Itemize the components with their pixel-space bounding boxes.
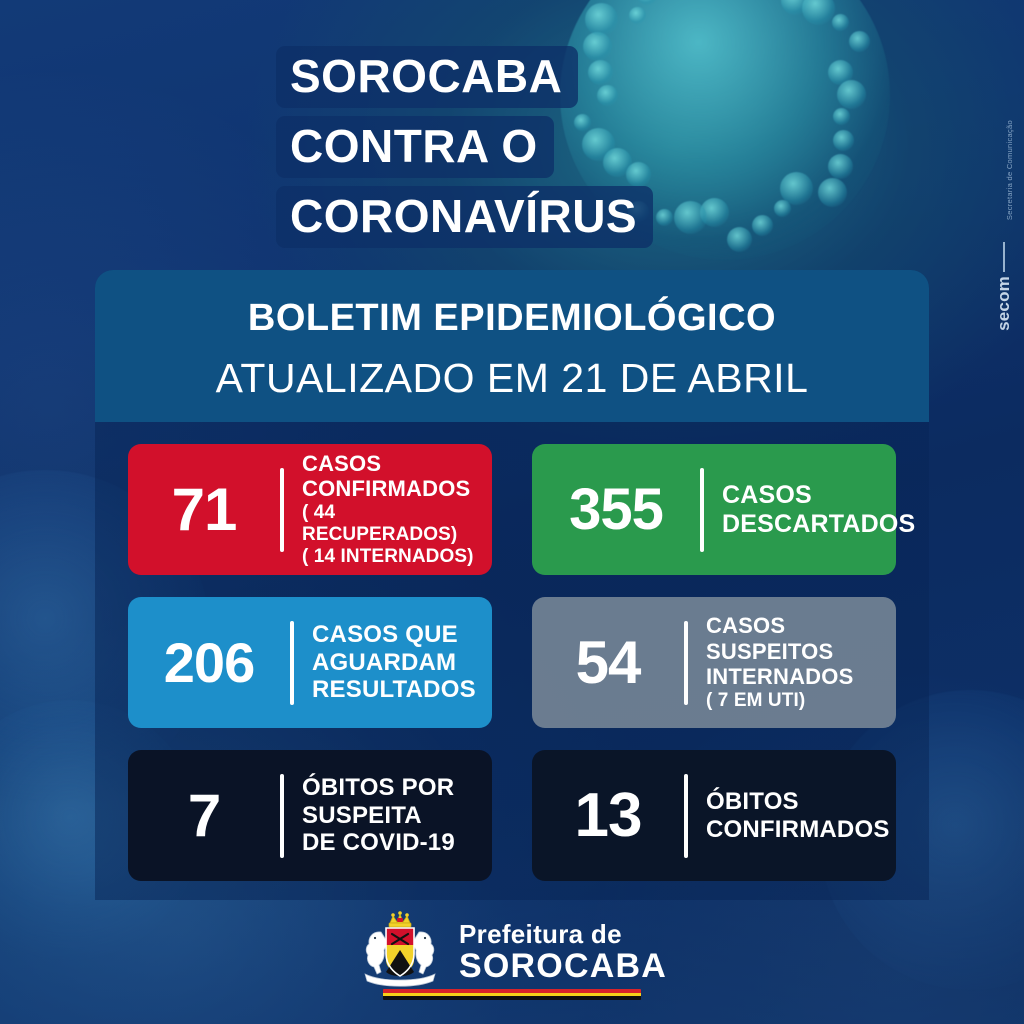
stat-card-casos-confirmados: 71 CASOS CONFIRMADOS ( 44 RECUPERADOS) (… [128, 444, 492, 575]
stat-label-line-1: CASOS [722, 481, 915, 510]
stat-label: CASOS SUSPEITOS INTERNADOS ( 7 EM UTI) [688, 613, 890, 712]
tricolor-bar [383, 989, 641, 1000]
bulletin-header-band: BOLETIM EPIDEMIOLÓGICO ATUALIZADO EM 21 … [95, 270, 929, 422]
statistics-grid: 71 CASOS CONFIRMADOS ( 44 RECUPERADOS) (… [128, 444, 896, 903]
stat-label-line-2: CONFIRMADOS [302, 476, 486, 502]
brand-line-2: SOROCABA [459, 949, 667, 983]
statistics-row-3: 7 ÓBITOS POR SUSPEITA DE COVID-19 13 ÓBI… [128, 750, 896, 881]
bulletin-updated-date: ATUALIZADO EM 21 DE ABRIL [95, 355, 929, 402]
infographic-canvas: SOROCABA CONTRA O CORONAVÍRUS Secretaria… [0, 0, 1024, 1024]
stat-value: 13 [532, 785, 684, 847]
tricolor-black [383, 996, 641, 1000]
stat-label: CASOS QUE AGUARDAM RESULTADOS [294, 621, 486, 704]
stat-card-casos-suspeitos-internados: 54 CASOS SUSPEITOS INTERNADOS ( 7 EM UTI… [532, 597, 896, 728]
stat-label: CASOS CONFIRMADOS ( 44 RECUPERADOS) ( 14… [284, 451, 486, 568]
prefeitura-brand: Prefeitura de SOROCABA [357, 910, 667, 993]
stat-label-line-1: CASOS [706, 613, 890, 639]
stat-label-line-2: DESCARTADOS [722, 510, 915, 539]
statistics-row-1: 71 CASOS CONFIRMADOS ( 44 RECUPERADOS) (… [128, 444, 896, 575]
stat-value: 7 [128, 786, 280, 846]
stat-label-line-2: CONFIRMADOS [706, 816, 890, 844]
stat-label-line-1: CASOS QUE [312, 621, 486, 649]
stat-value: 355 [532, 481, 700, 539]
title-line-3: CORONAVÍRUS [276, 186, 653, 248]
stat-label: ÓBITOS POR SUSPEITA DE COVID-19 [284, 774, 486, 857]
bulletin-title: BOLETIM EPIDEMIOLÓGICO [95, 297, 929, 340]
stat-card-obitos-confirmados: 13 ÓBITOS CONFIRMADOS [532, 750, 896, 881]
stat-label-line-3: RESULTADOS [312, 676, 486, 704]
stat-label-line-1: ÓBITOS POR [302, 774, 486, 802]
stat-card-obitos-por-suspeita: 7 ÓBITOS POR SUSPEITA DE COVID-19 [128, 750, 492, 881]
stat-label-line-2: SUSPEITA [302, 802, 486, 830]
stat-label: CASOS DESCARTADOS [704, 481, 915, 539]
footer: Prefeitura de SOROCABA [0, 900, 1024, 1024]
stat-card-casos-aguardando-resultado: 206 CASOS QUE AGUARDAM RESULTADOS [128, 597, 492, 728]
stat-value: 54 [532, 633, 684, 693]
stat-note-1: ( 7 EM UTI) [706, 690, 890, 712]
stat-note-1: ( 44 RECUPERADOS) [302, 502, 486, 546]
secom-subtitle: Secretaria de Comunicação [1005, 120, 1014, 220]
stat-value: 206 [128, 635, 290, 691]
secom-logo: Secretaria de Comunicação secom [976, 120, 1016, 320]
brand-wordmark: Prefeitura de SOROCABA [459, 921, 667, 983]
stat-label: ÓBITOS CONFIRMADOS [688, 788, 890, 844]
stat-value: 71 [128, 480, 280, 540]
stat-label-line-3: DE COVID-19 [302, 829, 486, 857]
stat-card-casos-descartados: 355 CASOS DESCARTADOS [532, 444, 896, 575]
stat-label-line-3: INTERNADOS [706, 664, 890, 690]
poster-title: SOROCABA CONTRA O CORONAVÍRUS [276, 46, 653, 256]
title-line-2: CONTRA O [276, 116, 554, 178]
secom-divider [1003, 242, 1005, 272]
stat-label-line-2: SUSPEITOS [706, 639, 890, 665]
secom-wordmark: secom [994, 276, 1014, 331]
coat-of-arms-icon [357, 910, 443, 993]
stat-label-line-1: ÓBITOS [706, 788, 890, 816]
brand-line-1: Prefeitura de [459, 921, 667, 947]
title-line-1: SOROCABA [276, 46, 578, 108]
stat-label-line-2: AGUARDAM [312, 649, 486, 677]
stat-label-line-1: CASOS [302, 451, 486, 477]
statistics-row-2: 206 CASOS QUE AGUARDAM RESULTADOS 54 CAS… [128, 597, 896, 728]
stat-note-2: ( 14 INTERNADOS) [302, 546, 486, 568]
